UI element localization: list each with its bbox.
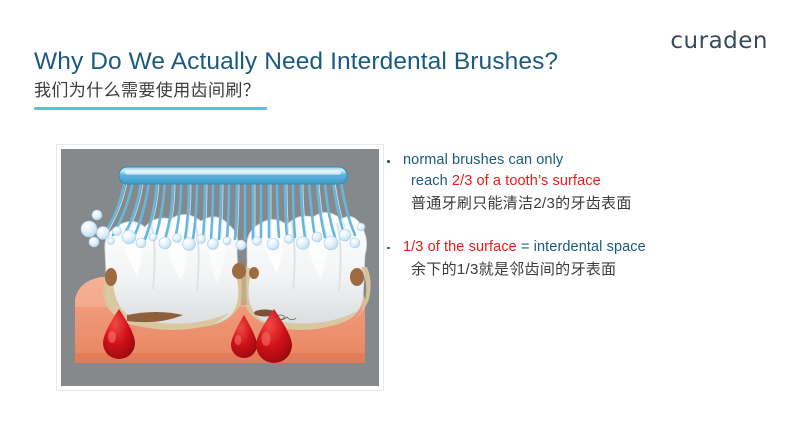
page-title-chinese: 我们为什么需要使用齿间刷？ — [34, 80, 558, 101]
bullet-1-line-2: reach 2/3 of a tooth’s surface — [403, 171, 785, 192]
bullet-item-2: 1/3 of the surface = interdental space 余… — [385, 237, 785, 281]
slide-canvas: curaden Why Do We Actually Need Interden… — [0, 0, 800, 446]
toothbrush-bleeding-gums-illustration — [61, 149, 379, 386]
title-underline-rule — [34, 107, 267, 110]
bullet-1-line-2-highlight: 2/3 of a tooth’s surface — [452, 173, 601, 189]
bullet-2-line-1: 1/3 of the surface = interdental space — [403, 237, 785, 258]
curaden-logo: curaden — [670, 30, 768, 53]
bullet-2-line-1-highlight: 1/3 of the surface — [403, 239, 517, 255]
bullet-1-chinese: 普通牙刷只能清洁2/3的牙齿表面 — [403, 193, 785, 215]
illustration-frame — [57, 145, 383, 390]
bullet-list: normal brushes can only reach 2/3 of a t… — [385, 150, 785, 303]
bullet-item-1: normal brushes can only reach 2/3 of a t… — [385, 150, 785, 215]
title-block: Why Do We Actually Need Interdental Brus… — [34, 48, 558, 110]
bullet-2-chinese: 余下的1/3就是邻齿间的牙表面 — [403, 259, 785, 281]
bullet-marker-icon — [387, 247, 390, 250]
bullet-1-line-1: normal brushes can only — [403, 150, 785, 171]
page-title-english: Why Do We Actually Need Interdental Brus… — [34, 48, 558, 76]
bullet-2-line-1-suffix: = interdental space — [517, 239, 646, 255]
bullet-1-line-2-prefix: reach — [411, 173, 452, 189]
bullet-marker-icon — [387, 160, 390, 163]
